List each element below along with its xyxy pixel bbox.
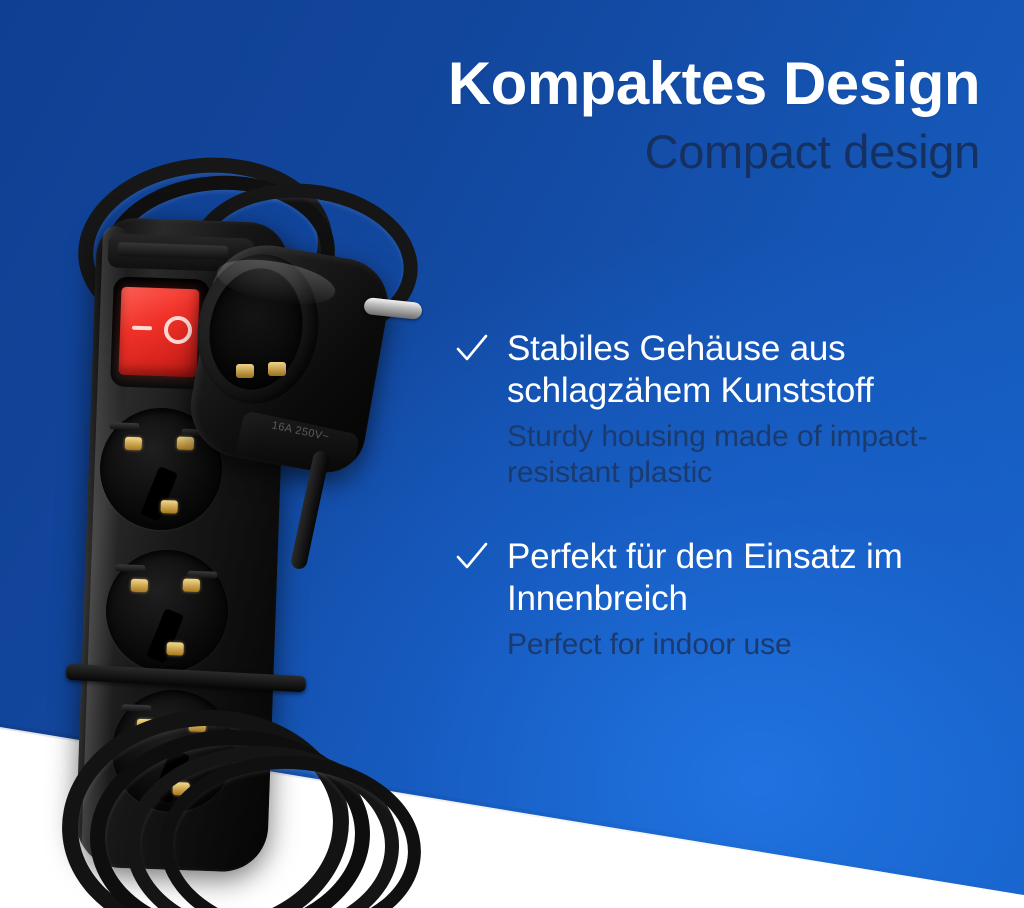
earth-clip-top [109,422,139,430]
feature-text-de: Stabiles Gehäuse aus schlagzähem Kunstst… [507,328,1000,413]
check-icon [455,540,489,574]
socket-contact-right [177,437,194,451]
feature-text-en: Perfect for indoor use [507,627,1000,664]
feature-list: Stabiles Gehäuse aus schlagzähem Kunstst… [455,328,1000,663]
heading-block: Kompaktes Design Compact design [320,52,980,179]
feature-item: Perfekt für den Einsatz im Innenbreich P… [455,536,1000,663]
plug-contact-left [236,364,254,378]
socket-contact-left [131,579,148,593]
socket-contact-right [183,579,200,593]
earth-clip-bottom [187,571,217,579]
plug-contact-right [268,362,286,376]
check-icon [455,332,489,366]
product-feature-banner: 16A 250V~ Kompaktes Design Compact desig… [0,0,1024,908]
product-image-power-strip: 16A 250V~ [40,150,480,908]
socket-contact-lower [160,500,177,514]
switch-off-mark-icon [132,326,152,331]
page-title-en: Compact design [320,124,980,179]
feature-text-en: Sturdy housing made of impact-resistant … [507,419,1000,492]
feature-item: Stabiles Gehäuse aus schlagzähem Kunstst… [455,328,1000,492]
earth-clip-top [115,564,145,572]
earth-clip-top [121,704,151,712]
page-title-de: Kompaktes Design [320,52,980,116]
feature-text-de: Perfekt für den Einsatz im Innenbreich [507,536,1000,621]
socket-contact-left [125,437,142,451]
socket-contact-lower [166,642,183,656]
